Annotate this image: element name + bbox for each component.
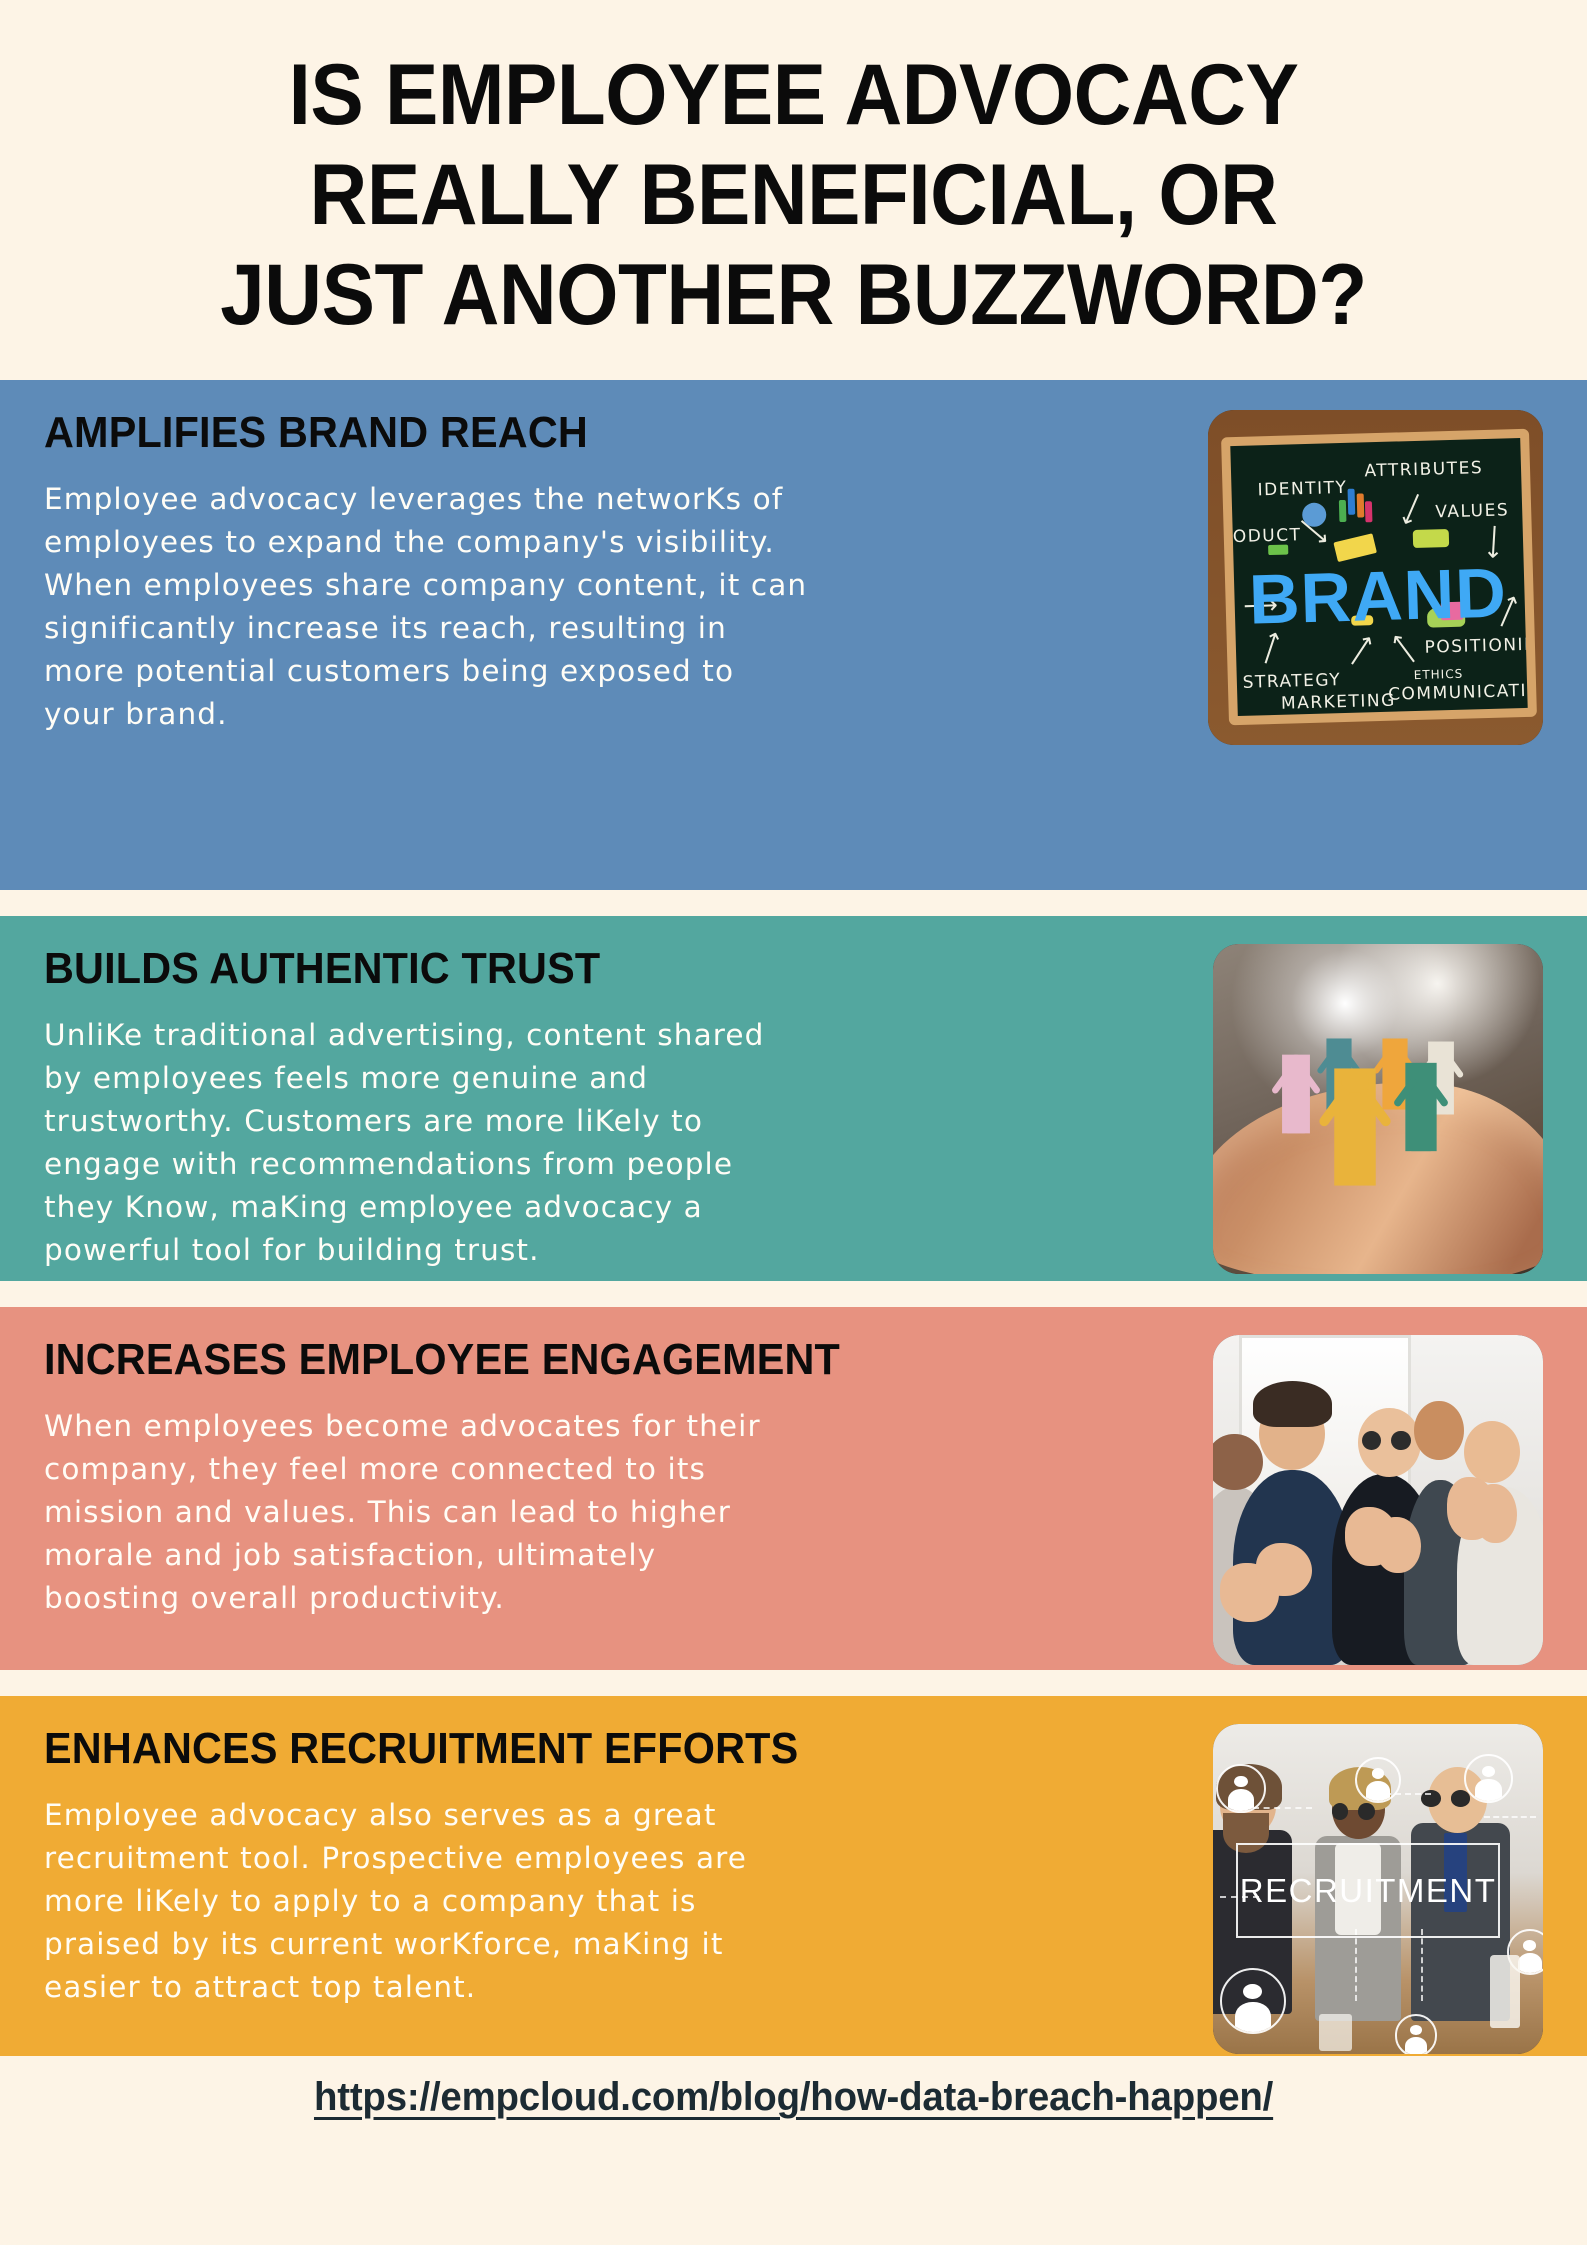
clapping-hand (1375, 1517, 1421, 1573)
page-title-line-2: REALLY BENEFICIAL, OR (111, 152, 1475, 238)
glasses-icon (1332, 1803, 1349, 1820)
paper-figure-front (1335, 1068, 1376, 1185)
person-avatar-icon (1464, 1754, 1514, 1804)
person-avatar-icon (1395, 2014, 1438, 2054)
page-title-line-1: IS EMPLOYEE ADVOCACY (111, 52, 1475, 138)
arrow-icon: ⟶ (1392, 488, 1431, 531)
page-title: IS EMPLOYEE ADVOCACY REALLY BENEFICIAL, … (0, 0, 1587, 338)
money-icon (1412, 530, 1448, 549)
water-bottle (1490, 1955, 1520, 2028)
paper-figure (1282, 1055, 1310, 1134)
infographic-page: { "page": { "background_color": "#FDF4E6… (0, 0, 1587, 2245)
page-title-line-3: JUST ANOTHER BUZZWORD? (111, 252, 1475, 338)
recruitment-overlay-text: RECRUITMENT (1240, 1872, 1497, 1910)
benefit-card-increases-employee-engagement: INCREASES EMPLOYEE ENGAGEMENT When emplo… (0, 1307, 1587, 1670)
bar-chart-icon (1356, 494, 1364, 518)
benefit-card-enhances-recruitment-efforts: ENHANCES RECRUITMENT EFFORTS Employee ad… (0, 1696, 1587, 2056)
clapping-hand (1474, 1484, 1517, 1543)
benefit-card-list: AMPLIFIES BRAND REACH Employee advocacy … (0, 380, 1587, 2056)
person-hair (1253, 1381, 1332, 1427)
bar-chart-icon (1365, 502, 1373, 523)
card-body-text: Employee advocacy also serves as a great… (44, 1794, 1154, 2009)
benefit-card-amplifies-brand-reach: AMPLIFIES BRAND REACH Employee advocacy … (0, 380, 1587, 890)
person-avatar-icon (1355, 1757, 1401, 1803)
brand-word: BRAND (1248, 558, 1508, 635)
paper-figure (1406, 1063, 1437, 1151)
arrow-icon: ⟶ (1382, 628, 1425, 672)
chalk-word-values: VALUES (1435, 501, 1509, 523)
chalk-word-communication: COMMUNICATIO (1388, 681, 1537, 705)
clapping-hand (1256, 1543, 1312, 1596)
card-body-text: Employee advocacy leverages the networKs… (44, 478, 1154, 736)
glasses-icon (1358, 1803, 1375, 1820)
chalk-word-identity: IDENTITY (1257, 478, 1347, 500)
footer: https://empcloud.com/blog/how-data-breac… (0, 2075, 1587, 2120)
person-avatar-icon (1220, 1968, 1286, 2034)
recruitment-meeting-image: RECRUITMENT (1213, 1724, 1543, 2054)
chalk-word-ethics: ETHICS (1413, 667, 1463, 682)
chalk-word-positioning: POSITIONIN (1424, 635, 1537, 658)
chalk-word-strategy: STRATEGY (1242, 670, 1341, 693)
benefit-card-builds-authentic-trust: BUILDS AUTHENTIC TRUST UnliKe traditiona… (0, 916, 1587, 1281)
bar-chart-icon (1339, 500, 1347, 522)
applauding-team-image (1213, 1335, 1543, 1665)
recruitment-overlay-label: RECRUITMENT (1236, 1843, 1500, 1939)
person-head (1414, 1401, 1464, 1460)
card-body-text: UnliKe traditional advertising, content … (44, 1014, 1154, 1272)
chalk-word-attributes: ATTRIBUTES (1364, 458, 1483, 481)
bar-chart-icon (1347, 489, 1355, 515)
connector-line (1253, 1807, 1312, 1809)
person-avatar-icon (1216, 1764, 1266, 1814)
card-body-text: When employees become advocates for thei… (44, 1405, 1154, 1620)
hand-holding-paper-people-image (1213, 944, 1543, 1274)
blackboard: IDENTITY ATTRIBUTES VALUES ODUCT POSITIO… (1221, 429, 1537, 726)
brand-blackboard-image: IDENTITY ATTRIBUTES VALUES ODUCT POSITIO… (1208, 410, 1543, 745)
connector-line (1421, 1929, 1423, 2002)
green-arrow-icon (1268, 545, 1288, 556)
source-url-link[interactable]: https://empcloud.com/blog/how-data-breac… (314, 2075, 1273, 2120)
chalk-word-marketing: MARKETING (1280, 691, 1395, 714)
connector-line (1484, 1816, 1537, 1818)
drinking-glass (1319, 2014, 1352, 2050)
connector-line (1355, 1929, 1357, 2002)
person-head (1464, 1421, 1520, 1484)
arrow-icon: ⟶ (1339, 629, 1381, 673)
